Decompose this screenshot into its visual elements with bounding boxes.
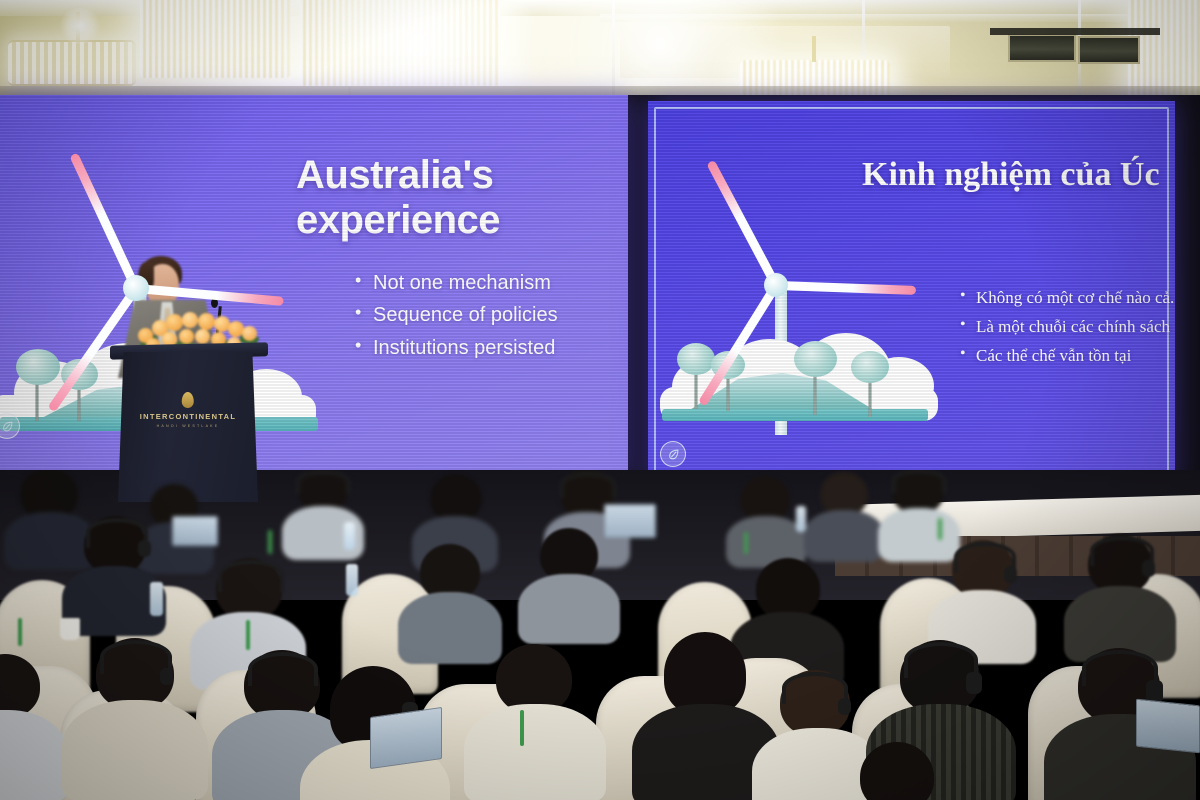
tree-graphic (788, 339, 842, 415)
bullet-item: Là một chuỗi các chính sách (960, 312, 1174, 341)
flower-bloom (242, 326, 257, 341)
laptop-screen (604, 504, 656, 538)
podium-logo: INTERCONTINENTAL HANOI WESTLAKE (140, 392, 237, 428)
headset-band-icon (248, 652, 318, 686)
chandelier-stem (812, 36, 816, 62)
person-body (804, 510, 884, 562)
water-bottle (150, 582, 163, 616)
person-body (4, 512, 96, 570)
bullet-item: Institutions persisted (355, 332, 558, 364)
headset-cup (1004, 566, 1017, 583)
slide-english: Australia's experience Not one mechanism… (0, 95, 628, 485)
headset-cup (138, 540, 151, 557)
headset-band-icon (560, 472, 616, 498)
ceiling-area (0, 0, 1200, 105)
headset-band-icon (218, 560, 284, 592)
flower-bloom (166, 314, 183, 331)
tree-canopy (16, 349, 60, 385)
headset-cup (1142, 560, 1155, 577)
turbine-blade (706, 160, 780, 288)
turbine-hub (123, 275, 149, 301)
lanyard (268, 530, 272, 554)
audience-area (0, 470, 1200, 800)
water-bottle (346, 564, 358, 596)
turbine-blade (776, 281, 916, 295)
flower-bloom (182, 312, 198, 328)
slide-bullet-list: Không có một cơ chế nào cả. Là một chuỗi… (960, 283, 1174, 371)
person-head (430, 474, 482, 522)
headset-cup (966, 672, 982, 694)
slide-title-line2: experience (296, 198, 500, 243)
bullet-item: Không có một cơ chế nào cả. (960, 283, 1174, 312)
venue-location: HANOI WESTLAKE (140, 424, 237, 428)
pendant-lamp-shade (8, 40, 136, 86)
turbine-hub (764, 273, 788, 297)
lanyard (246, 620, 250, 650)
flower-bloom (195, 329, 210, 344)
flower-bloom (198, 313, 215, 330)
headset-cup (838, 698, 851, 715)
person-body (62, 700, 208, 800)
headset-cup (160, 668, 173, 685)
lamp-glare (58, 8, 102, 44)
tree-canopy (794, 341, 837, 377)
lanyard (18, 618, 22, 646)
headset-band-icon (1082, 650, 1158, 686)
headset-band-icon (892, 470, 946, 493)
laptop-screen (1136, 699, 1200, 754)
headset-band-icon (904, 642, 978, 678)
water-bottle (344, 522, 355, 550)
coffee-cup (60, 618, 80, 640)
person-body (464, 704, 606, 800)
av-booth-window (1008, 34, 1076, 62)
lanyard (744, 532, 748, 554)
person-head (756, 558, 820, 620)
water-bottle (796, 506, 806, 532)
tree-graphic (846, 349, 894, 417)
person-body (878, 508, 960, 562)
leaf-icon (667, 448, 680, 461)
person-body (398, 592, 502, 664)
venue-name: INTERCONTINENTAL (140, 412, 237, 421)
bullet-item: Các thể chế vẫn tồn tại (960, 341, 1174, 370)
lanyard (938, 518, 942, 540)
slide-bullet-list: Not one mechanism Sequence of policies I… (355, 267, 558, 364)
tree-trunk (695, 369, 698, 409)
lanyard (520, 710, 524, 746)
headset-band-icon (296, 470, 350, 494)
av-booth-window (1078, 36, 1140, 64)
laptop-screen (370, 707, 442, 769)
laptop-screen (172, 516, 218, 546)
flower-bloom (179, 329, 194, 344)
tree-canopy (851, 351, 889, 383)
tree-trunk (869, 377, 872, 417)
turbine-blade (69, 152, 140, 290)
ceiling-edge-shadow (990, 28, 1160, 35)
leaf-icon (1, 420, 14, 433)
slide-title-line1: Australia's (296, 153, 493, 198)
slide-title: Kinh nghiệm của Úc (862, 155, 1160, 194)
intercontinental-mark-icon (182, 392, 194, 408)
slide-vietnamese: Kinh nghiệm của Úc Không có một cơ chế n… (648, 101, 1175, 487)
bullet-item: Sequence of policies (355, 299, 558, 331)
bullet-item: Not one mechanism (355, 267, 558, 299)
person-body (518, 574, 620, 644)
headset-band-icon (782, 672, 848, 704)
leaf-badge-icon (660, 441, 686, 467)
conference-photo-scene: Australia's experience Not one mechanism… (0, 0, 1200, 800)
